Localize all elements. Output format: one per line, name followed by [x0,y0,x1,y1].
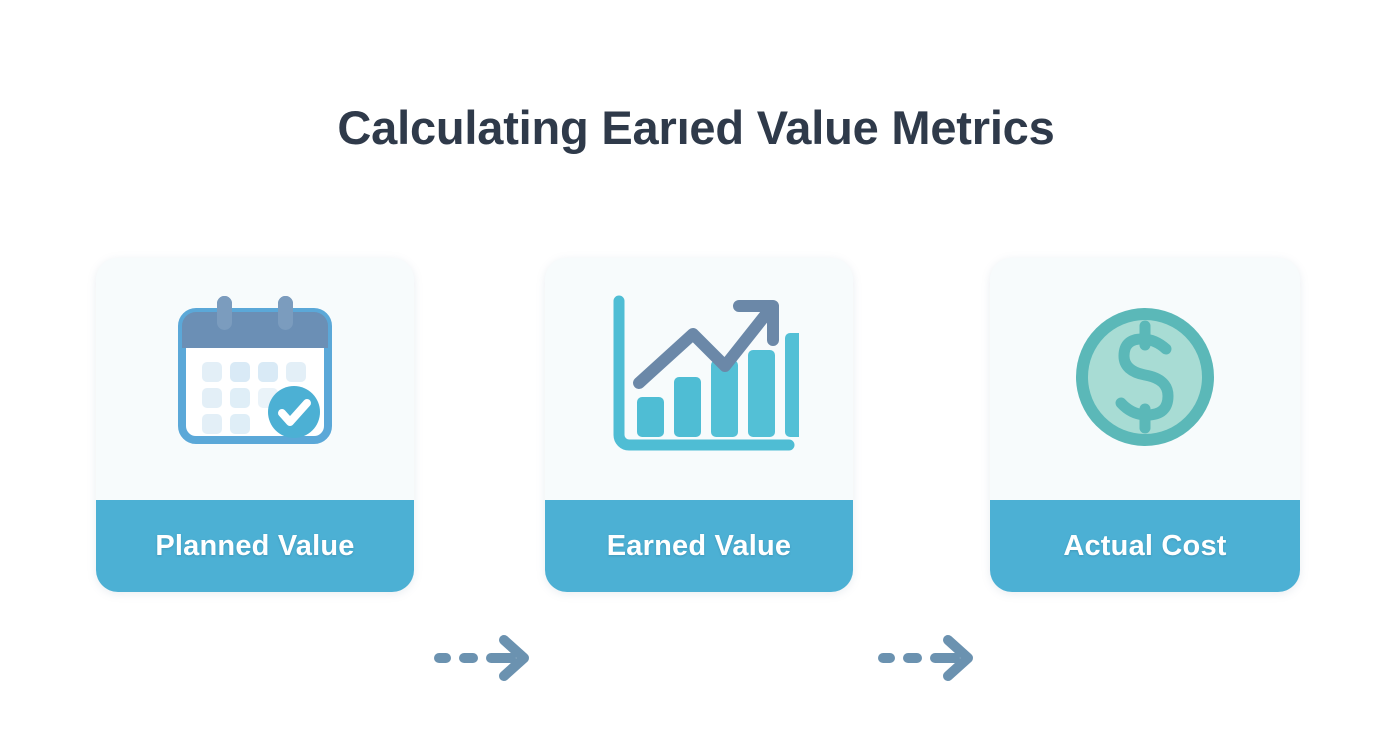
connector-arrow-1 [432,630,532,686]
actual-cost-band: Actual Cost [990,500,1300,592]
connector-arrow-2 [876,630,976,686]
flow-step-planned-value[interactable]: Planned Value [96,258,414,592]
dashed-arrow-right-icon [876,673,976,690]
earned-value-icon-area [545,258,853,500]
dashed-arrow-right-icon [432,673,532,690]
planned-value-icon-area [96,258,414,500]
bar-chart-trend-up-icon [599,287,799,472]
flow-step-earned-value[interactable]: Earned Value [545,258,853,592]
earned-value-metrics-diagram: Calculating Earıed Value Metrics [0,0,1392,752]
actual-cost-icon-area [990,258,1300,500]
earned-value-band: Earned Value [545,500,853,592]
flow-step-actual-cost[interactable]: Actual Cost [990,258,1300,592]
flow-step-label: Earned Value [607,530,792,563]
page-title: Calculating Earıed Value Metrics [0,100,1392,155]
flow-step-label: Planned Value [155,530,354,563]
planned-value-band: Planned Value [96,500,414,592]
calendar-check-icon [160,282,350,477]
flow-step-label: Actual Cost [1063,530,1226,563]
dollar-coin-icon [1065,297,1225,462]
metrics-flow: Planned Value [0,258,1392,594]
